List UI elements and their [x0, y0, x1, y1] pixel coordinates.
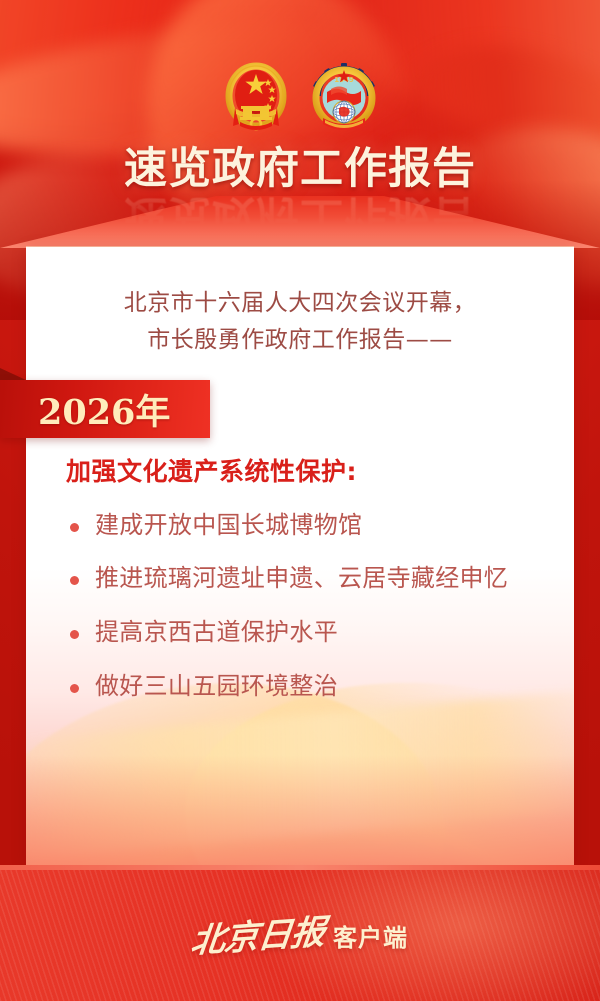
emblem-group: 1949: [0, 62, 600, 138]
subtitle-line-2: 市长殷勇作政府工作报告——: [78, 322, 522, 359]
page-title: 速览政府工作报告: [0, 146, 600, 192]
poster-title-area: 速览政府工作报告: [0, 146, 600, 192]
section-heading: 加强文化遗产系统性保护:: [66, 452, 574, 488]
year-label: 2026年: [38, 384, 170, 435]
brand-name-label: 北京日报: [189, 904, 328, 962]
footer-bar: 北京日报 客户端: [0, 865, 600, 1001]
bullet-list: 建成开放中国长城博物馆 推进琉璃河遗址申遗、云居寺藏经申忆 提高京西古道保护水平…: [70, 510, 574, 703]
badge-body: 2026年: [0, 380, 210, 438]
year-badge: 2026年: [0, 380, 210, 438]
list-item: 做好三山五园环境整治: [70, 671, 574, 703]
stage-platform: [0, 196, 600, 254]
bullet-dot-icon: [70, 576, 79, 585]
bullet-dot-icon: [70, 630, 79, 639]
list-item: 推进琉璃河遗址申遗、云居寺藏经申忆: [70, 563, 574, 595]
list-item-label: 做好三山五园环境整治: [95, 671, 338, 703]
list-item: 建成开放中国长城博物馆: [70, 510, 574, 542]
bullet-dot-icon: [70, 523, 79, 532]
cppcc-emblem-icon: 1949: [309, 62, 379, 134]
subtitle-line-1: 北京市十六届人大四次会议开幕，: [78, 285, 522, 322]
brand-logo: 北京日报 客户端: [0, 865, 600, 1001]
list-item: 提高京西古道保护水平: [70, 617, 574, 649]
subtitle: 北京市十六届人大四次会议开幕， 市长殷勇作政府工作报告——: [26, 247, 574, 360]
bullet-dot-icon: [70, 684, 79, 693]
list-item-label: 推进琉璃河遗址申遗、云居寺藏经申忆: [95, 563, 508, 595]
content-card: 北京市十六届人大四次会议开幕， 市长殷勇作政府工作报告—— 加强文化遗产系统性保…: [26, 247, 574, 865]
poster-root: 1949: [0, 0, 600, 1001]
list-item-label: 提高京西古道保护水平: [95, 617, 338, 649]
badge-fold-corner: [0, 368, 26, 380]
national-emblem-of-china-icon: [221, 62, 291, 134]
list-item-label: 建成开放中国长城博物馆: [95, 510, 362, 542]
brand-app-label: 客户端: [333, 918, 408, 953]
